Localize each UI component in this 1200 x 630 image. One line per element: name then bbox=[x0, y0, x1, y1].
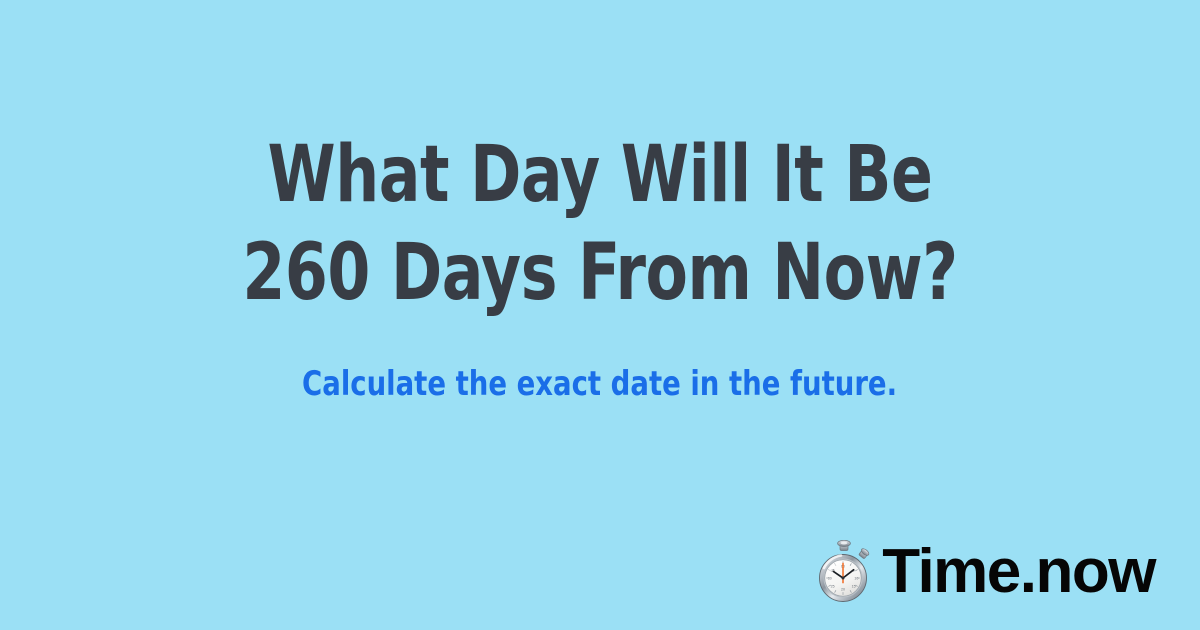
page-title-line-2: 260 Days From Now? bbox=[160, 224, 1040, 322]
brand-logo[interactable]: 60 5 10 15 20 25 30 35 Time.now bbox=[815, 540, 1155, 604]
hero-section: What Day Will It Be 260 Days From Now? C… bbox=[0, 0, 1200, 470]
svg-text:30: 30 bbox=[828, 577, 832, 581]
page-subtitle: Calculate the exact date in the future. bbox=[302, 364, 897, 404]
page-title-line-1: What Day Will It Be bbox=[160, 126, 1040, 224]
svg-text:10: 10 bbox=[855, 577, 859, 581]
svg-text:20: 20 bbox=[841, 588, 845, 592]
og-card: What Day Will It Be 260 Days From Now? C… bbox=[0, 0, 1200, 630]
page-title: What Day Will It Be 260 Days From Now? bbox=[160, 126, 1040, 322]
svg-text:25: 25 bbox=[831, 584, 835, 588]
svg-text:15: 15 bbox=[852, 584, 856, 588]
stopwatch-icon: 60 5 10 15 20 25 30 35 bbox=[815, 540, 873, 604]
brand-name: Time.now bbox=[882, 541, 1155, 603]
